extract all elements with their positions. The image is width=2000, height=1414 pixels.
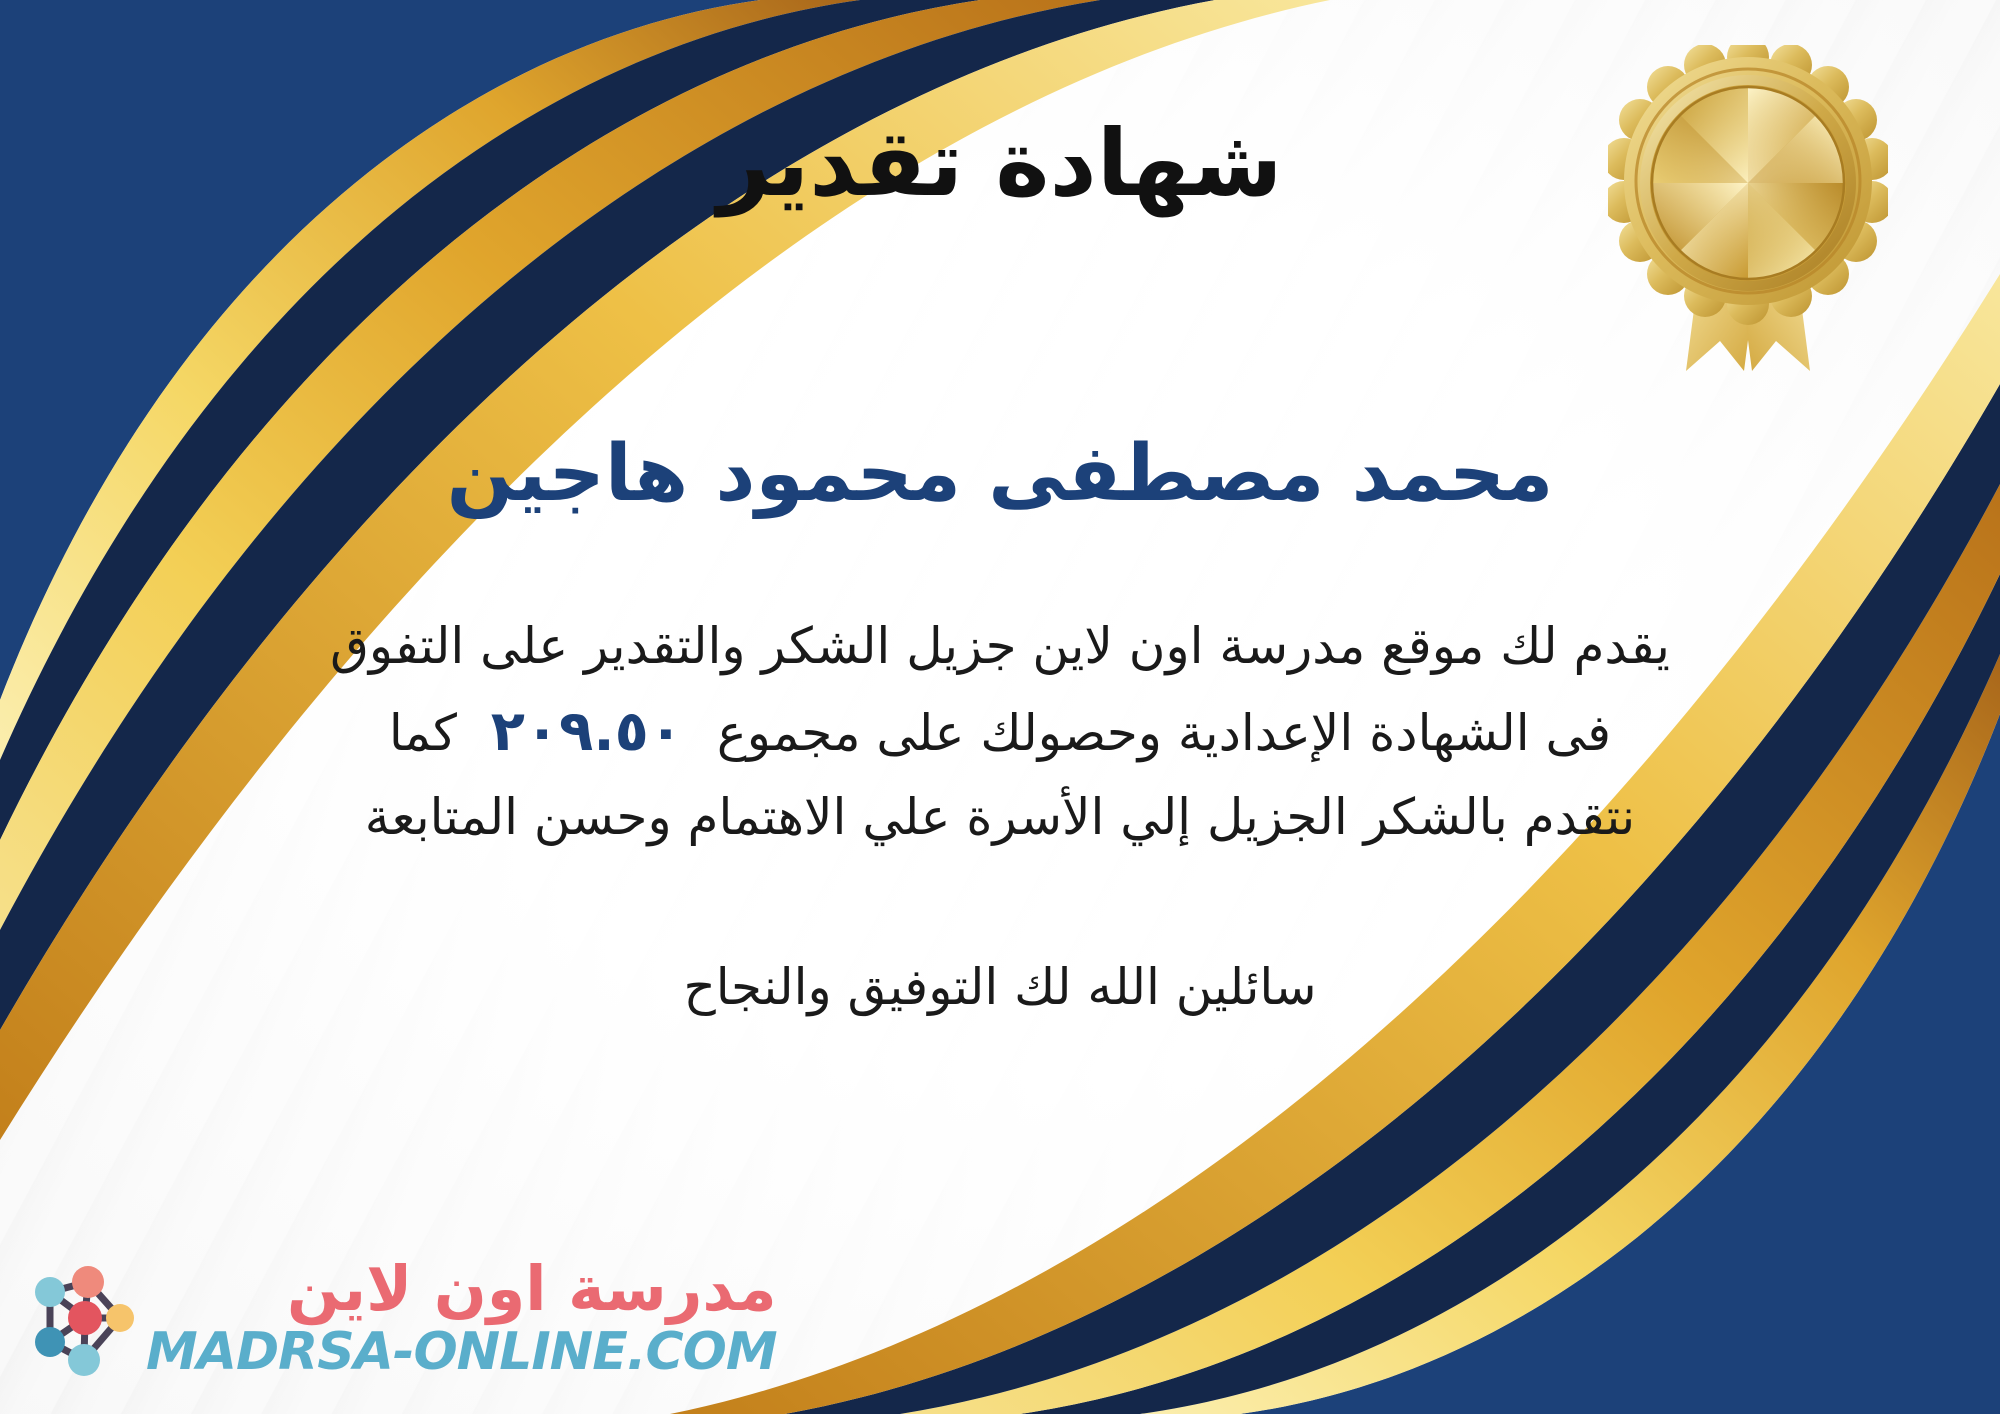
body-line-2-suffix: كما [389, 704, 457, 762]
certificate-page: شهادة تقدير محمد مصطفى محمود هاجين يقدم … [0, 0, 2000, 1414]
body-line-2-prefix: فى الشهادة الإعدادية وحصولك على مجموع [717, 704, 1611, 762]
brand-text-group: مدرسة اون لاين MADRSA-ONLINE.COM [146, 1258, 777, 1378]
recipient-name: محمد مصطفى محمود هاجين [447, 430, 1554, 520]
body-line-2: فى الشهادة الإعدادية وحصولك على مجموع ٢٠… [220, 687, 1780, 778]
gold-award-rosette-icon [1608, 45, 1888, 375]
closing-line: سائلين الله لك التوفيق والنجاح [683, 950, 1316, 1025]
body-line-3: نتقدم بالشكر الجزيل إلي الأسرة علي الاهت… [220, 777, 1780, 858]
brand-logo[interactable]: مدرسة اون لاين MADRSA-ONLINE.COM [28, 1256, 777, 1380]
brand-arabic-name: مدرسة اون لاين [287, 1258, 777, 1320]
body-line-1: يقدم لك موقع مدرسة اون لاين جزيل الشكر و… [220, 606, 1780, 687]
certificate-body: يقدم لك موقع مدرسة اون لاين جزيل الشكر و… [220, 606, 1780, 859]
network-nodes-icon [28, 1256, 140, 1380]
grade-total-value: ٢٠٩.٥٠ [473, 687, 701, 778]
page-title: شهادة تقدير [718, 112, 1283, 215]
brand-website-url: MADRSA-ONLINE.COM [146, 1326, 777, 1378]
